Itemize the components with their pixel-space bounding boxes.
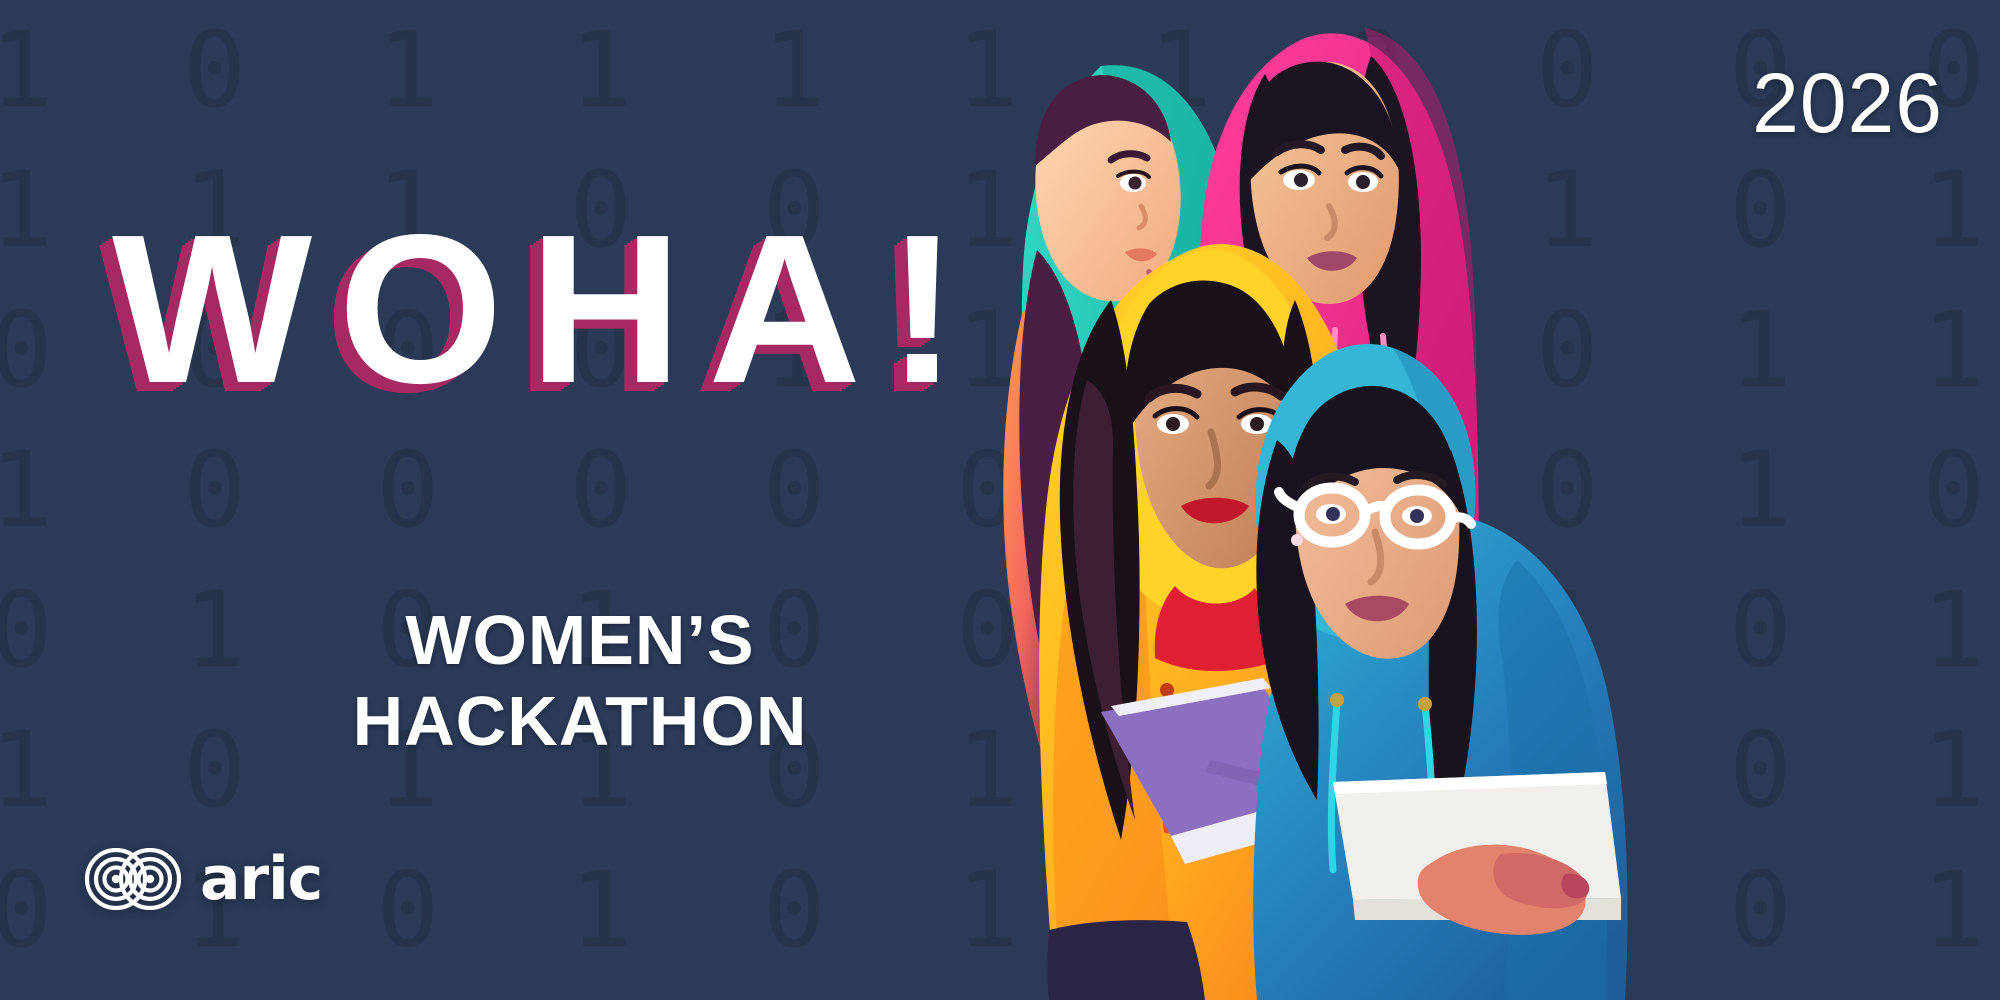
page-title: WOHA!: [112, 203, 984, 415]
yellow-woman-pupil-right: [1250, 417, 1264, 431]
blue-woman-pupil-left: [1326, 507, 1340, 521]
aric-logo-dot-left: [112, 875, 120, 883]
teal-woman-pupil: [1129, 177, 1142, 190]
pink-woman-pupil-left: [1294, 173, 1308, 187]
aric-logo[interactable]: aric: [80, 848, 322, 910]
yellow-woman-jeans: [1048, 920, 1206, 1000]
woha-hackathon-banner: 1 0 1 1 1 1 1 0 0 0 0 1 0 1 0 1 1 0 1 0 …: [0, 0, 2000, 1000]
aric-double-ring-icon: [80, 848, 186, 910]
blue-woman-earring: [1291, 534, 1303, 546]
subtitle: WOMEN’S HACKATHON: [330, 600, 830, 762]
aric-logo-dot-right: [146, 875, 154, 883]
blue-woman-pupil-right: [1410, 509, 1424, 523]
blue-hoodie-eyelet-right: [1418, 697, 1432, 711]
glasses-bridge: [1365, 506, 1386, 512]
year-label: 2026: [1752, 55, 1943, 152]
yellow-woman-pupil-left: [1166, 417, 1180, 431]
pink-woman-pupil-right: [1356, 175, 1370, 189]
subtitle-line-2: HACKATHON: [330, 681, 830, 762]
subtitle-line-1: WOMEN’S: [330, 600, 830, 681]
blue-hoodie-eyelet-left: [1330, 693, 1344, 707]
aric-wordmark: aric: [200, 849, 322, 909]
